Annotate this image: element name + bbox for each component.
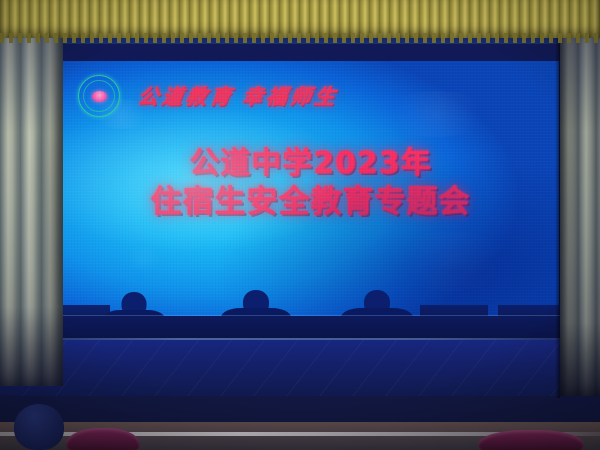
led-screen: 公道教育 幸福师生 公道中学2023年 住宿生安全教育专题会 <box>62 61 559 342</box>
title-line-1: 公道中学2023年 <box>70 145 551 183</box>
audience-seat-right <box>478 430 584 450</box>
school-emblem-icon <box>78 75 120 117</box>
auditorium-photo: 公道教育 幸福师生 公道中学2023年 住宿生安全教育专题会 <box>0 0 600 450</box>
stage-platform-front <box>0 340 600 396</box>
stage-valance <box>0 0 600 38</box>
school-motto: 公道教育 幸福师生 <box>136 81 341 111</box>
audience-head-left <box>14 404 64 450</box>
screen-header: 公道教育 幸福师生 <box>78 75 338 117</box>
screen-watermark-d <box>122 247 166 269</box>
screen-watermark-b <box>382 91 492 137</box>
screen-watermark-c <box>392 231 512 291</box>
school-emblem-core-icon <box>92 91 107 102</box>
presentation-title: 公道中学2023年 住宿生安全教育专题会 <box>62 145 559 221</box>
stage-curtain-right <box>560 28 600 396</box>
audience-seat-left <box>66 428 140 450</box>
stage-curtain-left <box>0 24 63 386</box>
title-line-2: 住宿生安全教育专题会 <box>70 183 551 221</box>
